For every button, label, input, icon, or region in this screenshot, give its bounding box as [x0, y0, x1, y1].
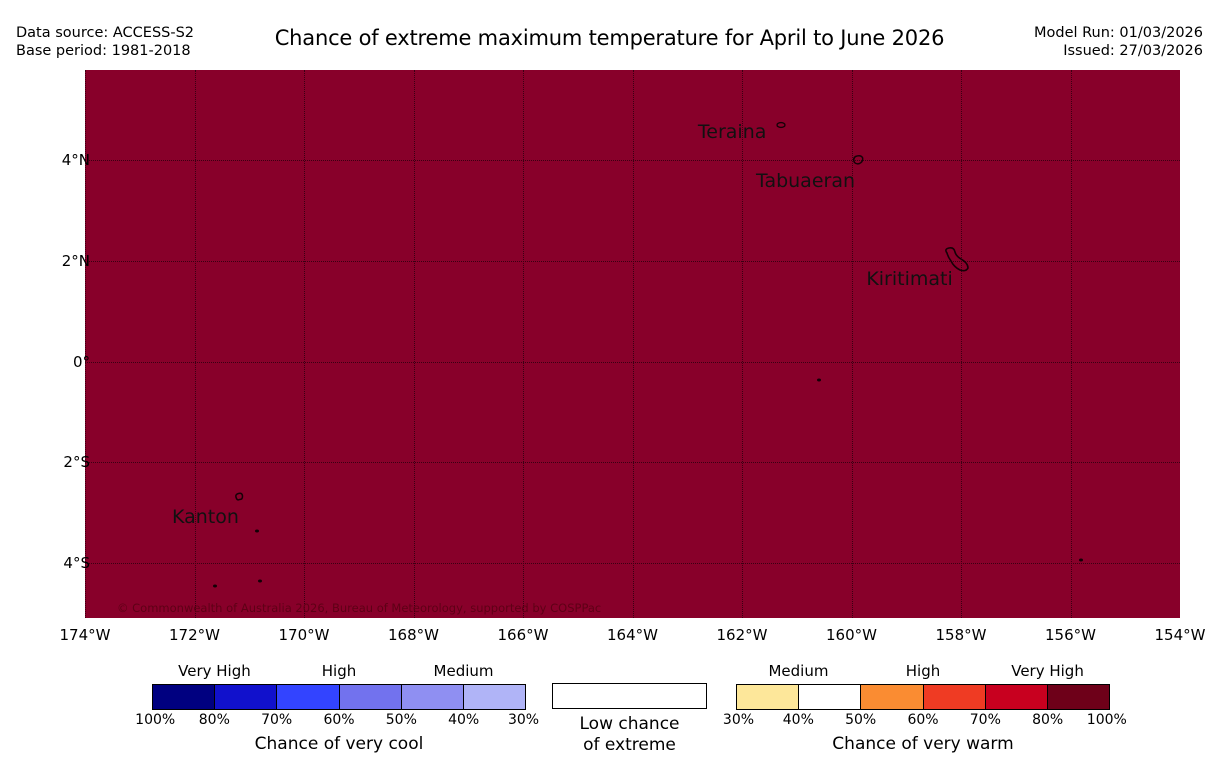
island-shape-kanton	[234, 486, 245, 505]
legend-warm-tick-label: 100%	[1087, 712, 1127, 728]
issued-text: Issued: 27/03/2026	[1034, 42, 1203, 60]
gridline-horizontal	[85, 261, 1180, 262]
legend-low-title: Low chance of extreme	[552, 714, 707, 756]
legend-cool-swatch-1[interactable]	[215, 685, 277, 709]
legend-warm-tick-label: 70%	[970, 712, 1001, 728]
model-run-text: Model Run: 01/03/2026	[1034, 24, 1203, 42]
legend-cool-tick-label: 100%	[135, 712, 175, 728]
legend-cool-tick-label: 60%	[323, 712, 354, 728]
island-marker	[1079, 559, 1083, 562]
gridline-horizontal	[85, 462, 1180, 463]
legend-warm-category-label: Very High	[1011, 662, 1084, 680]
legend-low-title-line2: of extreme	[552, 735, 707, 756]
legend-cool-title: Chance of very cool	[152, 734, 526, 754]
map-copyright: © Commonwealth of Australia 2026, Bureau…	[117, 601, 601, 615]
legend-warm-tick-label: 50%	[845, 712, 876, 728]
gridline-vertical	[961, 70, 962, 618]
legend-warm-title: Chance of very warm	[736, 734, 1110, 754]
legend-cool-swatch-4[interactable]	[402, 685, 464, 709]
x-axis-tick: 160°W	[826, 626, 877, 644]
gridline-vertical	[414, 70, 415, 618]
legend-warm-swatch-2[interactable]	[861, 685, 923, 709]
legend-warm-swatch-4[interactable]	[986, 685, 1048, 709]
y-axis-tick: 4°N	[62, 151, 90, 169]
gridline-vertical	[304, 70, 305, 618]
legend-cool-category-label: Very High	[178, 662, 251, 680]
legend-cool-swatch-0[interactable]	[153, 685, 215, 709]
x-axis-tick: 174°W	[60, 626, 111, 644]
island-shape-tabuaeran	[852, 151, 865, 170]
island-marker	[255, 529, 259, 532]
x-axis-tick: 162°W	[717, 626, 768, 644]
legend-warm-swatch-1[interactable]	[799, 685, 861, 709]
legend-warm-colorbar[interactable]	[736, 684, 1110, 710]
legend-very-warm[interactable]: MediumHighVery High 30%40%50%60%70%80%10…	[736, 662, 1110, 754]
x-axis-tick: 154°W	[1155, 626, 1206, 644]
legend-warm-swatch-3[interactable]	[924, 685, 986, 709]
legend-warm-swatch-5[interactable]	[1048, 685, 1109, 709]
header-right-meta: Model Run: 01/03/2026 Issued: 27/03/2026	[1034, 24, 1203, 60]
x-axis-tick: 168°W	[388, 626, 439, 644]
gridline-vertical	[633, 70, 634, 618]
legend-warm-tick-label: 80%	[1032, 712, 1063, 728]
x-axis-tick: 158°W	[936, 626, 987, 644]
x-axis-tick: 166°W	[498, 626, 549, 644]
gridline-vertical	[1071, 70, 1072, 618]
legend-low-title-line1: Low chance	[552, 714, 707, 735]
y-axis-tick: 4°S	[63, 554, 90, 572]
legend-cool-tick-label: 70%	[261, 712, 292, 728]
legend-cool-tick-label: 30%	[508, 712, 539, 728]
island-label-teraina: Teraina	[698, 121, 767, 143]
legend-cool-swatch-2[interactable]	[277, 685, 339, 709]
gridline-vertical	[195, 70, 196, 618]
island-shape-teraina	[777, 114, 786, 133]
legend-cool-categories: Very HighHighMedium	[152, 662, 526, 682]
x-axis-tick: 170°W	[279, 626, 330, 644]
gridline-horizontal	[85, 160, 1180, 161]
legend-warm-category-label: Medium	[768, 662, 828, 680]
legend-warm-tick-label: 30%	[723, 712, 754, 728]
island-label-kanton: Kanton	[172, 506, 239, 528]
island-marker	[213, 584, 217, 587]
x-axis-tick: 156°W	[1045, 626, 1096, 644]
legend-cool-swatch-3[interactable]	[340, 685, 402, 709]
island-marker	[258, 580, 262, 583]
gridline-horizontal	[85, 362, 1180, 363]
island-shape-kiritimati	[941, 246, 971, 278]
x-axis-tick: 164°W	[607, 626, 658, 644]
legend-warm-tick-label: 40%	[783, 712, 814, 728]
island-label-tabuaeran: Tabuaeran	[756, 170, 855, 192]
legend-cool-tick-label: 50%	[386, 712, 417, 728]
legend-cool-colorbar[interactable]	[152, 684, 526, 710]
island-marker	[817, 379, 821, 382]
legend-cool-tick-label: 80%	[199, 712, 230, 728]
legend-cool-category-label: Medium	[434, 662, 494, 680]
gridline-vertical	[523, 70, 524, 618]
legend-warm-category-label: High	[906, 662, 940, 680]
legend-warm-ticks: 30%40%50%60%70%80%100%	[736, 712, 1110, 732]
legend-warm-categories: MediumHighVery High	[736, 662, 1110, 682]
y-axis-tick: 2°N	[62, 252, 90, 270]
y-axis-tick: 2°S	[63, 453, 90, 471]
gridline-horizontal	[85, 563, 1180, 564]
legend-cool-category-label: High	[322, 662, 356, 680]
legend-cool-swatch-5[interactable]	[464, 685, 525, 709]
gridline-vertical	[742, 70, 743, 618]
x-axis-tick: 172°W	[169, 626, 220, 644]
legend-very-cool[interactable]: Very HighHighMedium 100%80%70%60%50%40%3…	[152, 662, 526, 754]
legend-low-chance[interactable]: Low chance of extreme	[552, 683, 707, 756]
legend-low-swatch[interactable]	[552, 683, 707, 709]
legend-warm-tick-label: 60%	[907, 712, 938, 728]
legend-warm-swatch-0[interactable]	[737, 685, 799, 709]
y-axis-tick: 0°	[73, 353, 90, 371]
legend-cool-tick-label: 40%	[448, 712, 479, 728]
legend-cool-ticks: 100%80%70%60%50%40%30%	[152, 712, 526, 732]
map-plot-area[interactable]: TerainaTabuaeranKiritimatiKanton© Common…	[85, 70, 1180, 618]
